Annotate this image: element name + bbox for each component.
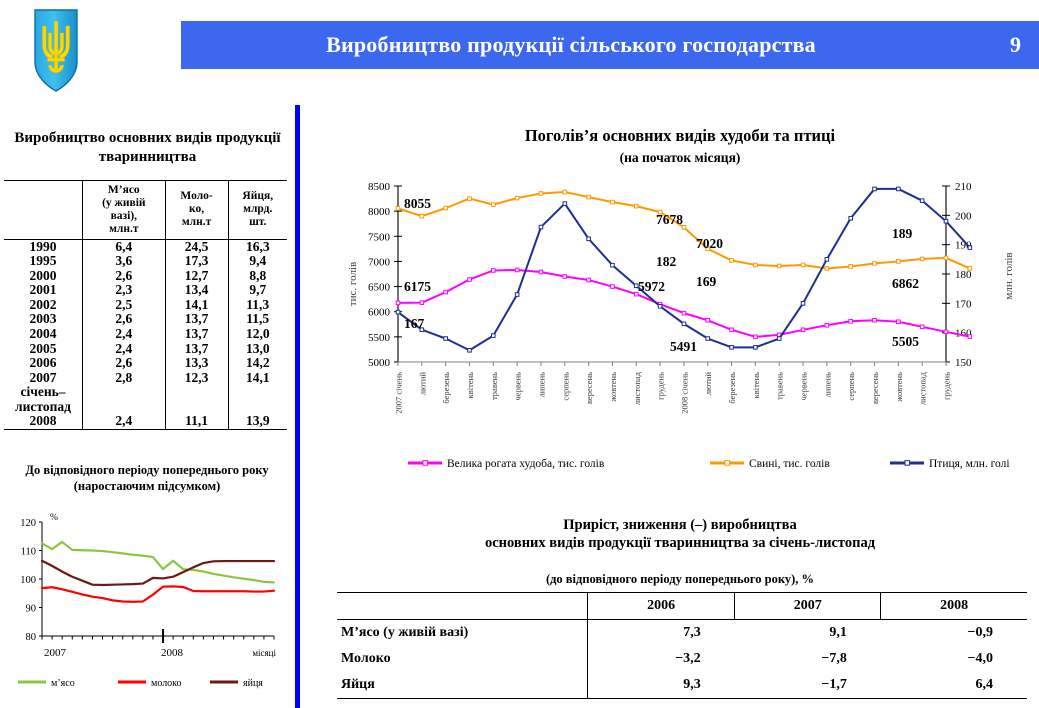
milk-cell: 14,1 — [165, 298, 228, 313]
growth-row-label: Яйця — [337, 672, 588, 699]
data-label: 182 — [656, 254, 677, 269]
production-table-body: 19906,424,516,319953,617,39,420002,612,7… — [4, 239, 287, 430]
eggs-cell: 14,2 — [228, 356, 287, 371]
svg-text:2007 січень: 2007 січень — [394, 372, 404, 414]
data-label: 167 — [404, 316, 425, 331]
svg-text:%: % — [50, 513, 58, 523]
growth-row-label: Молоко — [337, 646, 588, 672]
eggs-cell: 8,8 — [228, 269, 287, 284]
vertical-divider — [295, 105, 300, 708]
svg-text:Свині, тис. голів: Свині, тис. голів — [749, 458, 830, 470]
col-eggs: Яйця, млрд. шт. — [228, 181, 287, 240]
col-meat: М’ясо (у живій вазі), млн.т — [83, 181, 166, 240]
svg-text:8500: 8500 — [368, 181, 391, 193]
svg-text:8000: 8000 — [368, 206, 391, 218]
eggs-cell: 16,3 — [228, 239, 287, 254]
milk-cell: 13,7 — [165, 327, 228, 342]
col-year — [4, 181, 83, 240]
table-row: 20032,613,711,5 — [4, 312, 287, 327]
col-milk: Моло- ко, млн.т — [165, 181, 228, 240]
growth-2007-cell: −7,8 — [735, 646, 881, 672]
milk-cell: 12,3 — [165, 371, 228, 386]
period-label-cell: січень–листопад2008 — [4, 385, 83, 429]
year-cell: 1995 — [4, 254, 83, 269]
meat-cell: 2,5 — [83, 298, 166, 313]
table-row: 19906,424,516,3 — [4, 239, 287, 254]
growth-col-name — [337, 593, 588, 620]
growth-2007-cell: −1,7 — [735, 672, 881, 699]
growth-table-head: 2006 2007 2008 — [337, 593, 1027, 620]
meat-cell: 3,6 — [83, 254, 166, 269]
svg-text:7500: 7500 — [368, 231, 391, 243]
svg-text:6000: 6000 — [368, 307, 391, 319]
milk-cell: 13,3 — [165, 356, 228, 371]
growth-table: 2006 2007 2008 М’ясо (у живій вазі)7,39,… — [337, 592, 1027, 699]
svg-text:лютий: лютий — [417, 372, 427, 396]
data-label: 5972 — [638, 279, 665, 294]
milk-cell: 13,7 — [165, 342, 228, 357]
growth-2006-cell: 7,3 — [588, 620, 735, 647]
svg-text:вересень: вересень — [584, 372, 594, 404]
livestock-chart-subtitle: (на початок місяця) — [330, 150, 1030, 166]
col-eggs-l2: млрд. — [243, 203, 272, 215]
eggs-cell: 11,5 — [228, 312, 287, 327]
meat-cell: 2,6 — [83, 356, 166, 371]
period-l1: січень– — [20, 384, 65, 399]
svg-text:травень: травень — [775, 372, 785, 400]
meat-cell: 6,4 — [83, 239, 166, 254]
data-label: 6175 — [404, 279, 431, 294]
data-label: 7678 — [656, 212, 683, 227]
svg-text:2008: 2008 — [161, 647, 184, 659]
table-header-row: 2006 2007 2008 — [337, 593, 1027, 620]
growth-2008-cell: −0,9 — [881, 620, 1027, 647]
svg-text:90: 90 — [26, 604, 37, 615]
growth-col-2007: 2007 — [735, 593, 881, 620]
col-eggs-l1: Яйця, — [242, 190, 273, 202]
svg-text:грудень: грудень — [942, 372, 952, 400]
index-chart: 809010011012020072008місяці% — [6, 508, 288, 668]
svg-text:80: 80 — [26, 632, 37, 643]
svg-text:Велика рогата худоба, тис. гол: Велика рогата худоба, тис. голів — [447, 458, 605, 470]
svg-text:150: 150 — [955, 357, 972, 369]
svg-text:квітень: квітень — [751, 372, 761, 399]
growth-table-title: Приріст, зниження (–) виробництва основн… — [330, 516, 1030, 552]
meat-cell: 2,6 — [83, 269, 166, 284]
col-meat-l4: млн.т — [109, 223, 138, 235]
period-l2: листопад — [15, 399, 71, 414]
eggs-cell: 14,1 — [228, 371, 287, 386]
data-label: 7020 — [696, 236, 723, 251]
col-eggs-l3: шт. — [249, 216, 266, 228]
svg-text:120: 120 — [20, 518, 36, 529]
table-row: 20052,413,713,0 — [4, 342, 287, 357]
data-label: 5505 — [892, 334, 919, 349]
header-bar: Виробництво продукції сільського господа… — [181, 21, 1039, 69]
col-meat-l1: М’ясо — [108, 184, 140, 196]
year-cell: 2001 — [4, 283, 83, 298]
growth-table-body: М’ясо (у живій вазі)7,39,1−0,9Молоко−3,2… — [337, 620, 1027, 699]
svg-text:180: 180 — [955, 269, 972, 281]
table-row: 20072,812,314,1 — [4, 371, 287, 386]
data-label: 6862 — [892, 276, 919, 291]
svg-text:місяці: місяці — [252, 648, 276, 658]
milk-cell: 13,7 — [165, 312, 228, 327]
col-meat-l2: (у живій — [102, 197, 145, 209]
svg-text:листопад: листопад — [918, 371, 928, 405]
period-l3: 2008 — [30, 413, 57, 428]
table-row: 20062,613,314,2 — [4, 356, 287, 371]
milk-cell: 13,4 — [165, 283, 228, 298]
milk-cell: 12,7 — [165, 269, 228, 284]
growth-col-2008: 2008 — [881, 593, 1027, 620]
svg-text:Птиця, млн. голів: Птиця, млн. голів — [929, 458, 1010, 470]
year-cell: 2004 — [4, 327, 83, 342]
svg-text:2008 січень: 2008 січень — [679, 372, 689, 414]
svg-text:2007: 2007 — [44, 647, 67, 659]
col-milk-l1: Моло- — [180, 190, 212, 202]
eggs-cell: 11,3 — [228, 298, 287, 313]
eggs-cell: 9,4 — [228, 254, 287, 269]
svg-text:200: 200 — [955, 210, 972, 222]
growth-title-line2: основних видів продукції тваринництва за… — [485, 535, 875, 551]
year-cell: 2007 — [4, 371, 83, 386]
data-label: 5491 — [670, 339, 697, 354]
svg-text:100: 100 — [20, 575, 36, 586]
col-milk-l2: ко, — [189, 203, 204, 215]
svg-text:квітень: квітень — [465, 372, 475, 399]
index-chart-title: До відповідного періоду попереднього рок… — [2, 463, 292, 494]
svg-text:210: 210 — [955, 181, 972, 193]
svg-text:жовтень: жовтень — [894, 372, 904, 403]
svg-text:5500: 5500 — [368, 332, 391, 344]
growth-col-2006: 2006 — [588, 593, 735, 620]
svg-text:липень: липень — [536, 372, 546, 398]
page-title: Виробництво продукції сільського господа… — [181, 21, 961, 69]
data-label: 8055 — [404, 196, 431, 211]
svg-text:лютий: лютий — [703, 372, 713, 396]
meat-cell: 2,3 — [83, 283, 166, 298]
svg-text:травень: травень — [489, 372, 499, 400]
year-cell: 2003 — [4, 312, 83, 327]
svg-text:млн. голів: млн. голів — [1003, 252, 1015, 299]
data-label: 189 — [892, 226, 913, 241]
growth-2008-cell: 6,4 — [881, 672, 1027, 699]
svg-text:6500: 6500 — [368, 282, 391, 294]
svg-text:березень: березень — [441, 372, 451, 404]
milk-cell: 17,3 — [165, 254, 228, 269]
year-cell: 2002 — [4, 298, 83, 313]
growth-table-subtitle: (до відповідного періоду попереднього ро… — [330, 572, 1030, 587]
eggs-cell: 13,0 — [228, 342, 287, 357]
milk-cell: 11,1 — [165, 385, 228, 429]
table-row: 20022,514,111,3 — [4, 298, 287, 313]
svg-text:серпень: серпень — [846, 372, 856, 401]
meat-cell: 2,8 — [83, 371, 166, 386]
year-cell: 2005 — [4, 342, 83, 357]
svg-text:вересень: вересень — [870, 372, 880, 404]
production-table: М’ясо (у живій вазі), млн.т Моло- ко, мл… — [4, 180, 287, 430]
eggs-cell: 13,9 — [228, 385, 287, 429]
svg-text:м’ясо: м’ясо — [51, 678, 75, 689]
year-cell: 1990 — [4, 239, 83, 254]
year-cell: 2000 — [4, 269, 83, 284]
svg-text:7000: 7000 — [368, 256, 391, 268]
svg-text:червень: червень — [799, 372, 809, 401]
svg-text:березень: березень — [727, 372, 737, 404]
meat-cell: 2,4 — [83, 327, 166, 342]
svg-text:червень: червень — [513, 372, 523, 401]
svg-text:170: 170 — [955, 298, 972, 310]
data-label: 169 — [696, 274, 717, 289]
table-row: 20012,313,49,7 — [4, 283, 287, 298]
index-chart-legend: м’ясомолокояйця — [10, 670, 290, 696]
meat-cell: 2,4 — [83, 385, 166, 429]
year-cell: 2006 — [4, 356, 83, 371]
svg-text:серпень: серпень — [560, 372, 570, 401]
svg-text:молоко: молоко — [151, 678, 182, 689]
eggs-cell: 12,0 — [228, 327, 287, 342]
growth-2008-cell: −4,0 — [881, 646, 1027, 672]
ukraine-trident-coat-of-arms-icon — [32, 8, 80, 94]
table-row-last: січень–листопад20082,411,113,9 — [4, 385, 287, 429]
svg-text:110: 110 — [21, 547, 36, 558]
table-row: М’ясо (у живій вазі)7,39,1−0,9 — [337, 620, 1027, 647]
growth-row-label: М’ясо (у живій вазі) — [337, 620, 588, 647]
col-milk-l3: млн.т — [182, 216, 211, 228]
growth-2007-cell: 9,1 — [735, 620, 881, 647]
table-header-row: М’ясо (у живій вазі), млн.т Моло- ко, мл… — [4, 181, 287, 240]
index-chart-title-line1: До відповідного періоду попереднього рок… — [25, 463, 268, 477]
svg-text:5000: 5000 — [368, 357, 391, 369]
table-row: 19953,617,39,4 — [4, 254, 287, 269]
table-row: Молоко−3,2−7,8−4,0 — [337, 646, 1027, 672]
eggs-cell: 9,7 — [228, 283, 287, 298]
col-meat-l3: вазі), — [111, 210, 137, 222]
livestock-chart-title: Поголів’я основних видів худоби та птиці — [330, 126, 1030, 147]
svg-text:грудень: грудень — [656, 372, 666, 400]
svg-text:липень: липень — [822, 372, 832, 398]
table-row: 20002,612,78,8 — [4, 269, 287, 284]
table-row: Яйця9,3−1,76,4 — [337, 672, 1027, 699]
milk-cell: 24,5 — [165, 239, 228, 254]
meat-cell: 2,6 — [83, 312, 166, 327]
svg-text:листопад: листопад — [632, 371, 642, 405]
production-table-title: Виробництво основних видів продукції тва… — [10, 129, 285, 167]
table-row: 20042,413,712,0 — [4, 327, 287, 342]
meat-cell: 2,4 — [83, 342, 166, 357]
growth-2006-cell: −3,2 — [588, 646, 735, 672]
index-chart-subtitle: (наростаючим підсумком) — [74, 479, 221, 493]
svg-text:жовтень: жовтень — [608, 372, 618, 403]
growth-2006-cell: 9,3 — [588, 672, 735, 699]
production-table-head: М’ясо (у живій вазі), млн.т Моло- ко, мл… — [4, 181, 287, 240]
growth-title-line1: Приріст, зниження (–) виробництва — [563, 517, 797, 533]
slide: Виробництво продукції сільського господа… — [0, 0, 1039, 708]
livestock-chart: 5000550060006500700075008000850015016017… — [340, 176, 1030, 436]
livestock-chart-legend: Велика рогата худоба, тис. голівСвині, т… — [390, 450, 1010, 476]
svg-text:яйця: яйця — [243, 678, 263, 689]
svg-text:тис. голів: тис. голів — [347, 262, 359, 306]
slide-number: 9 — [1010, 21, 1021, 69]
